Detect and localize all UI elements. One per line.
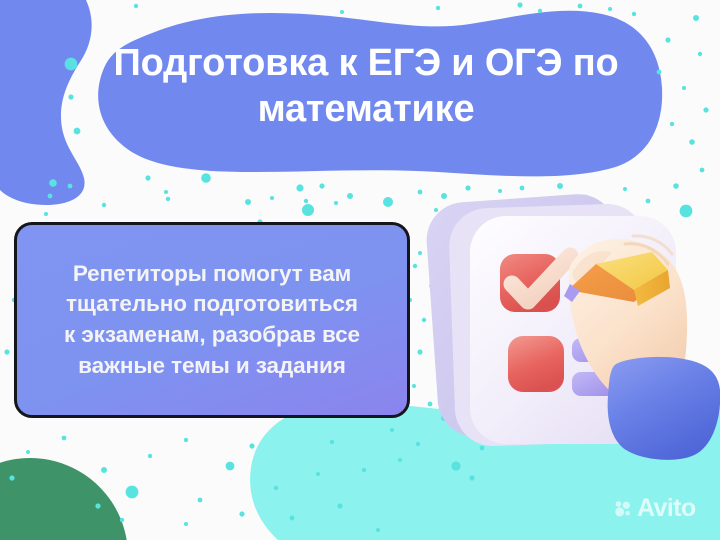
description-card: Репетиторы помогут вам тщательно подгото… xyxy=(14,222,410,418)
promo-poster: Подготовка к ЕГЭ и ОГЭ по математике Реп… xyxy=(0,0,720,540)
avito-watermark: Avito xyxy=(613,496,696,521)
sleeve xyxy=(608,357,720,460)
title-blob xyxy=(98,11,662,177)
checklist-illustration xyxy=(420,192,720,492)
avito-dots-icon xyxy=(613,499,633,519)
description-text: Репетиторы помогут вам тщательно подгото… xyxy=(52,259,372,381)
unchecked-checkbox xyxy=(508,336,564,392)
avito-watermark-label: Avito xyxy=(637,496,696,521)
